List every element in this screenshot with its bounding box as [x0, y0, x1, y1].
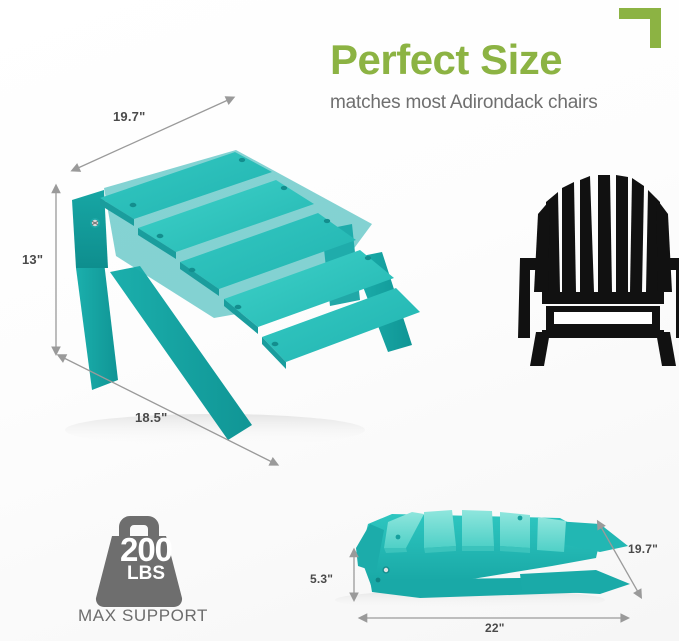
- headline-block: Perfect Size matches most Adirondack cha…: [330, 38, 670, 115]
- dimension-label-folded-width: 22": [485, 621, 505, 635]
- adirondack-chair-silhouette-icon: [518, 175, 679, 366]
- dimension-label-folded-height: 5.3": [310, 572, 333, 586]
- dimension-label-folded-depth: 19.7": [628, 542, 658, 556]
- ottoman-folded: [356, 510, 630, 598]
- folded-product-shadow: [335, 590, 605, 610]
- max-support-block: 200 LBS MAX SUPPORT: [76, 505, 256, 626]
- infographic-canvas: Perfect Size matches most Adirondack cha…: [0, 0, 679, 641]
- weight-unit: LBS: [90, 563, 202, 585]
- dimension-label-width: 19.7": [113, 109, 145, 124]
- weight-icon-wrap: 200 LBS: [90, 505, 202, 600]
- product-shadow: [65, 414, 365, 446]
- max-support-caption: MAX SUPPORT: [76, 606, 256, 626]
- dimension-lines-assembled: [56, 100, 272, 462]
- dimension-label-depth: 18.5": [135, 410, 167, 425]
- dimension-label-height: 13": [22, 252, 43, 267]
- dimension-lines-folded: [354, 527, 638, 618]
- ottoman-assembled: [72, 150, 420, 440]
- page-subtitle: matches most Adirondack chairs: [330, 91, 670, 115]
- page-title: Perfect Size: [330, 38, 670, 82]
